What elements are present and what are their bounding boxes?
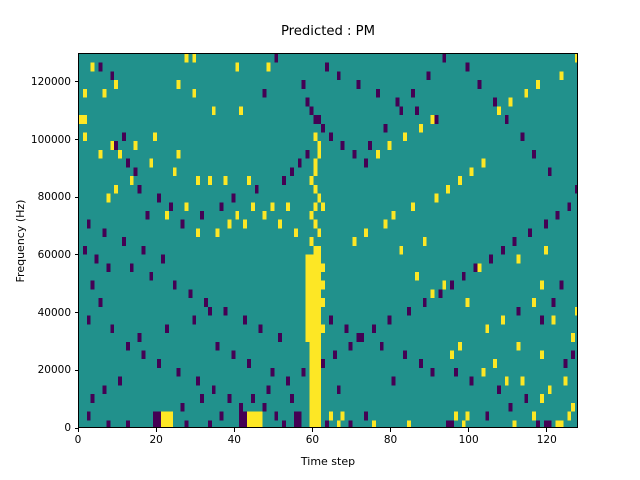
y-tick-mark <box>75 81 79 82</box>
y-tick-label: 20000 <box>0 364 71 376</box>
page-title: Predicted : PM <box>78 24 578 40</box>
y-tick-mark <box>75 197 79 198</box>
x-tick-label: 100 <box>459 434 479 446</box>
x-tick-mark <box>156 428 157 432</box>
x-axis-label: Time step <box>78 455 578 468</box>
x-tick-mark <box>234 428 235 432</box>
x-tick-label: 0 <box>75 434 82 446</box>
y-tick-label: 60000 <box>0 249 71 261</box>
y-axis-label: Frequency (Hz) <box>14 199 27 282</box>
y-tick-label: 40000 <box>0 307 71 319</box>
heatmap-image <box>79 54 578 428</box>
x-tick-label: 40 <box>228 434 241 446</box>
x-tick-label: 120 <box>537 434 557 446</box>
x-tick-label: 60 <box>306 434 319 446</box>
x-tick-mark <box>312 428 313 432</box>
figure-canvas: Predicted : PM Time step Frequency (Hz) … <box>0 0 640 480</box>
y-tick-mark <box>75 370 79 371</box>
y-tick-mark <box>75 312 79 313</box>
y-tick-label: 120000 <box>0 76 71 88</box>
x-tick-mark <box>78 428 79 432</box>
x-tick-mark <box>390 428 391 432</box>
y-tick-label: 0 <box>0 422 71 434</box>
x-tick-mark <box>546 428 547 432</box>
y-tick-mark <box>75 254 79 255</box>
y-tick-label: 100000 <box>0 134 71 146</box>
x-tick-mark <box>468 428 469 432</box>
y-tick-mark <box>75 139 79 140</box>
heatmap-plot-area[interactable] <box>78 53 578 428</box>
x-tick-label: 20 <box>149 434 162 446</box>
y-tick-mark <box>75 428 79 429</box>
x-tick-label: 80 <box>384 434 397 446</box>
y-tick-label: 80000 <box>0 191 71 203</box>
